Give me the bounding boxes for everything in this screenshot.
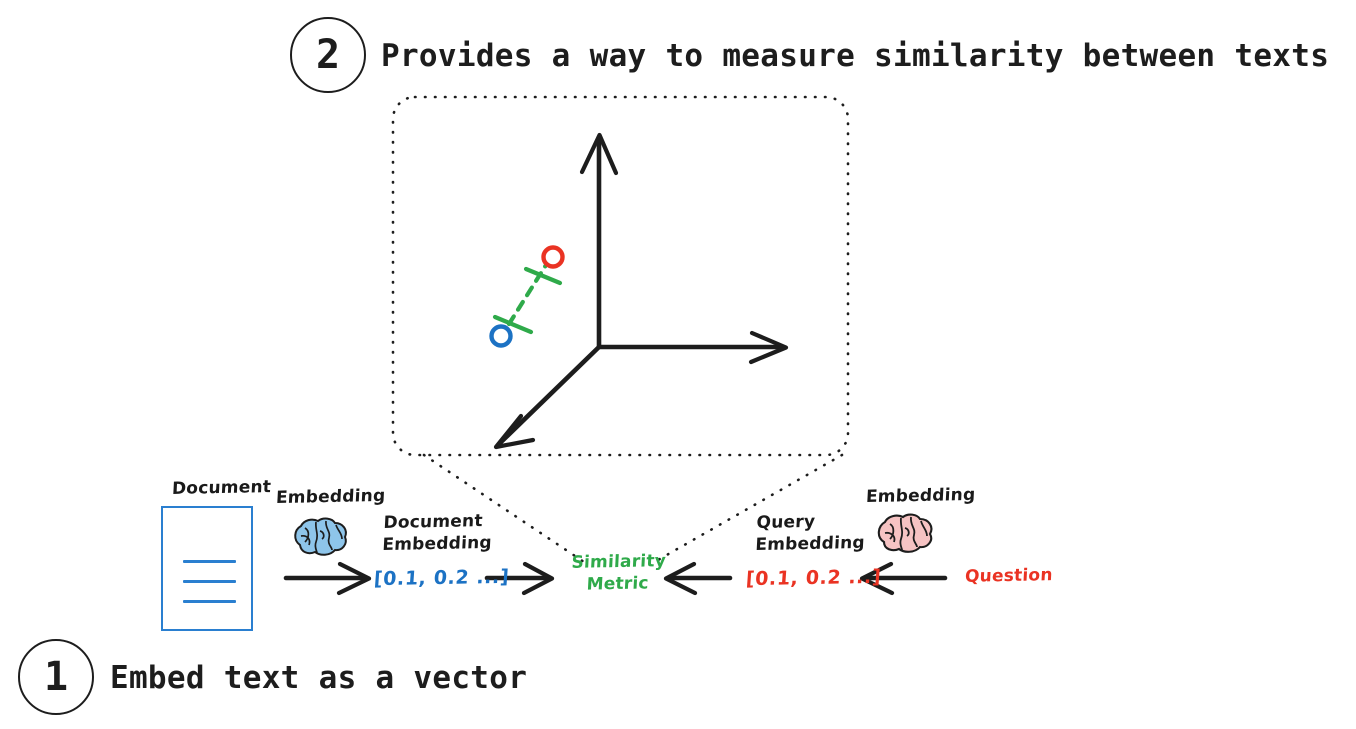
similarity-distance-group xyxy=(495,265,560,332)
step-2-badge: 2 xyxy=(290,17,366,93)
query-vector-value: [0.1, 0.2 ...] xyxy=(745,565,882,592)
document-label: Document xyxy=(171,477,271,501)
step-1-badge: 1 xyxy=(18,639,94,715)
query-embedding-label: Query Embedding xyxy=(755,511,867,557)
embedding-label-left: Embedding xyxy=(275,486,385,510)
document-text-line xyxy=(183,600,236,603)
embedding-label-right: Embedding xyxy=(865,485,975,509)
step-2-text: Provides a way to measure similarity bet… xyxy=(381,38,1329,74)
document-text-line xyxy=(183,560,236,563)
document-vector-value: [0.1, 0.2 ...] xyxy=(373,565,510,592)
step-2-number: 2 xyxy=(316,35,340,75)
vector-space-axes xyxy=(496,135,786,447)
diagram-canvas: 2 Provides a way to measure similarity b… xyxy=(0,0,1356,729)
step-1-number: 1 xyxy=(44,657,68,697)
document-icon xyxy=(161,506,253,631)
distance-tick-far xyxy=(526,269,560,283)
document-embedding-label: Document Embedding xyxy=(382,511,494,557)
brain-blue-icon xyxy=(295,519,346,555)
question-label: Question xyxy=(964,565,1053,588)
document-text-line xyxy=(183,580,236,583)
query-vector-point xyxy=(544,248,563,267)
step-1-text: Embed text as a vector xyxy=(110,660,527,696)
similarity-metric-label: Similarity Metric xyxy=(570,551,667,596)
vector-space-callout-box xyxy=(393,97,848,455)
document-vector-point xyxy=(492,327,511,346)
brain-pink-icon xyxy=(879,515,932,552)
z-axis xyxy=(500,347,599,443)
